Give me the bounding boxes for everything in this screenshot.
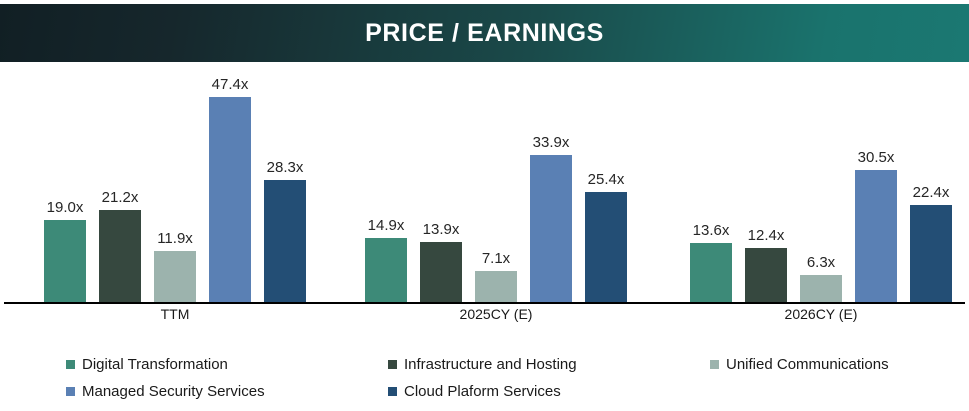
legend-label: Infrastructure and Hosting [404,356,577,373]
bar-value-label: 30.5x [841,149,911,166]
bar-rect[interactable] [910,205,952,302]
legend-label: Unified Communications [726,356,889,373]
legend-item[interactable]: Infrastructure and Hosting [388,356,577,373]
bar-group: 14.9x13.9x7.1x33.9x25.4x [365,64,627,302]
legend-label: Cloud Plaform Services [404,383,561,400]
bar-value-label: 11.9x [140,230,210,247]
legend-item[interactable]: Cloud Plaform Services [388,383,561,400]
legend-swatch-icon [66,387,75,396]
bar-value-label: 12.4x [731,227,801,244]
bar-rect[interactable] [855,170,897,302]
legend-swatch-icon [388,387,397,396]
bar-group: 19.0x21.2x11.9x47.4x28.3x [44,64,306,302]
legend-item[interactable]: Managed Security Services [66,383,265,400]
bar-rect[interactable] [800,275,842,302]
legend-label: Digital Transformation [82,356,228,373]
chart-legend: Digital TransformationInfrastructure and… [0,352,969,410]
bar-rect[interactable] [745,248,787,302]
bar-rect[interactable] [420,242,462,302]
bar-rect[interactable] [264,180,306,302]
category-label: 2026CY (E) [690,306,952,322]
bar-value-label: 7.1x [461,250,531,267]
category-axis-labels: TTM2025CY (E)2026CY (E) [0,306,969,330]
page-title: PRICE / EARNINGS [365,19,604,48]
bar-value-label: 25.4x [571,171,641,188]
bar-rect[interactable] [690,243,732,302]
bar-rect[interactable] [44,220,86,302]
bar-value-label: 21.2x [85,189,155,206]
bar-rect[interactable] [585,192,627,302]
bar-value-label: 22.4x [896,184,966,201]
legend-swatch-icon [388,360,397,369]
bar-group: 13.6x12.4x6.3x30.5x22.4x [690,64,952,302]
bar-rect[interactable] [99,210,141,302]
category-label: 2025CY (E) [365,306,627,322]
legend-item[interactable]: Unified Communications [710,356,889,373]
legend-item[interactable]: Digital Transformation [66,356,228,373]
bar-rect[interactable] [209,97,251,302]
plot-area: 19.0x21.2x11.9x47.4x28.3x14.9x13.9x7.1x3… [0,62,969,304]
bar-value-label: 6.3x [786,254,856,271]
bar-rect[interactable] [530,155,572,302]
bar-rect[interactable] [154,251,196,302]
price-earnings-chart: PRICE / EARNINGS 19.0x21.2x11.9x47.4x28.… [0,0,969,411]
bar-rect[interactable] [365,238,407,302]
bar-rect[interactable] [475,271,517,302]
x-axis-line [4,302,965,304]
bar-value-label: 47.4x [195,76,265,93]
bar-value-label: 33.9x [516,134,586,151]
legend-swatch-icon [710,360,719,369]
legend-swatch-icon [66,360,75,369]
chart-header-banner: PRICE / EARNINGS [0,4,969,62]
legend-label: Managed Security Services [82,383,265,400]
bar-value-label: 28.3x [250,159,320,176]
category-label: TTM [44,306,306,322]
bar-value-label: 13.9x [406,221,476,238]
